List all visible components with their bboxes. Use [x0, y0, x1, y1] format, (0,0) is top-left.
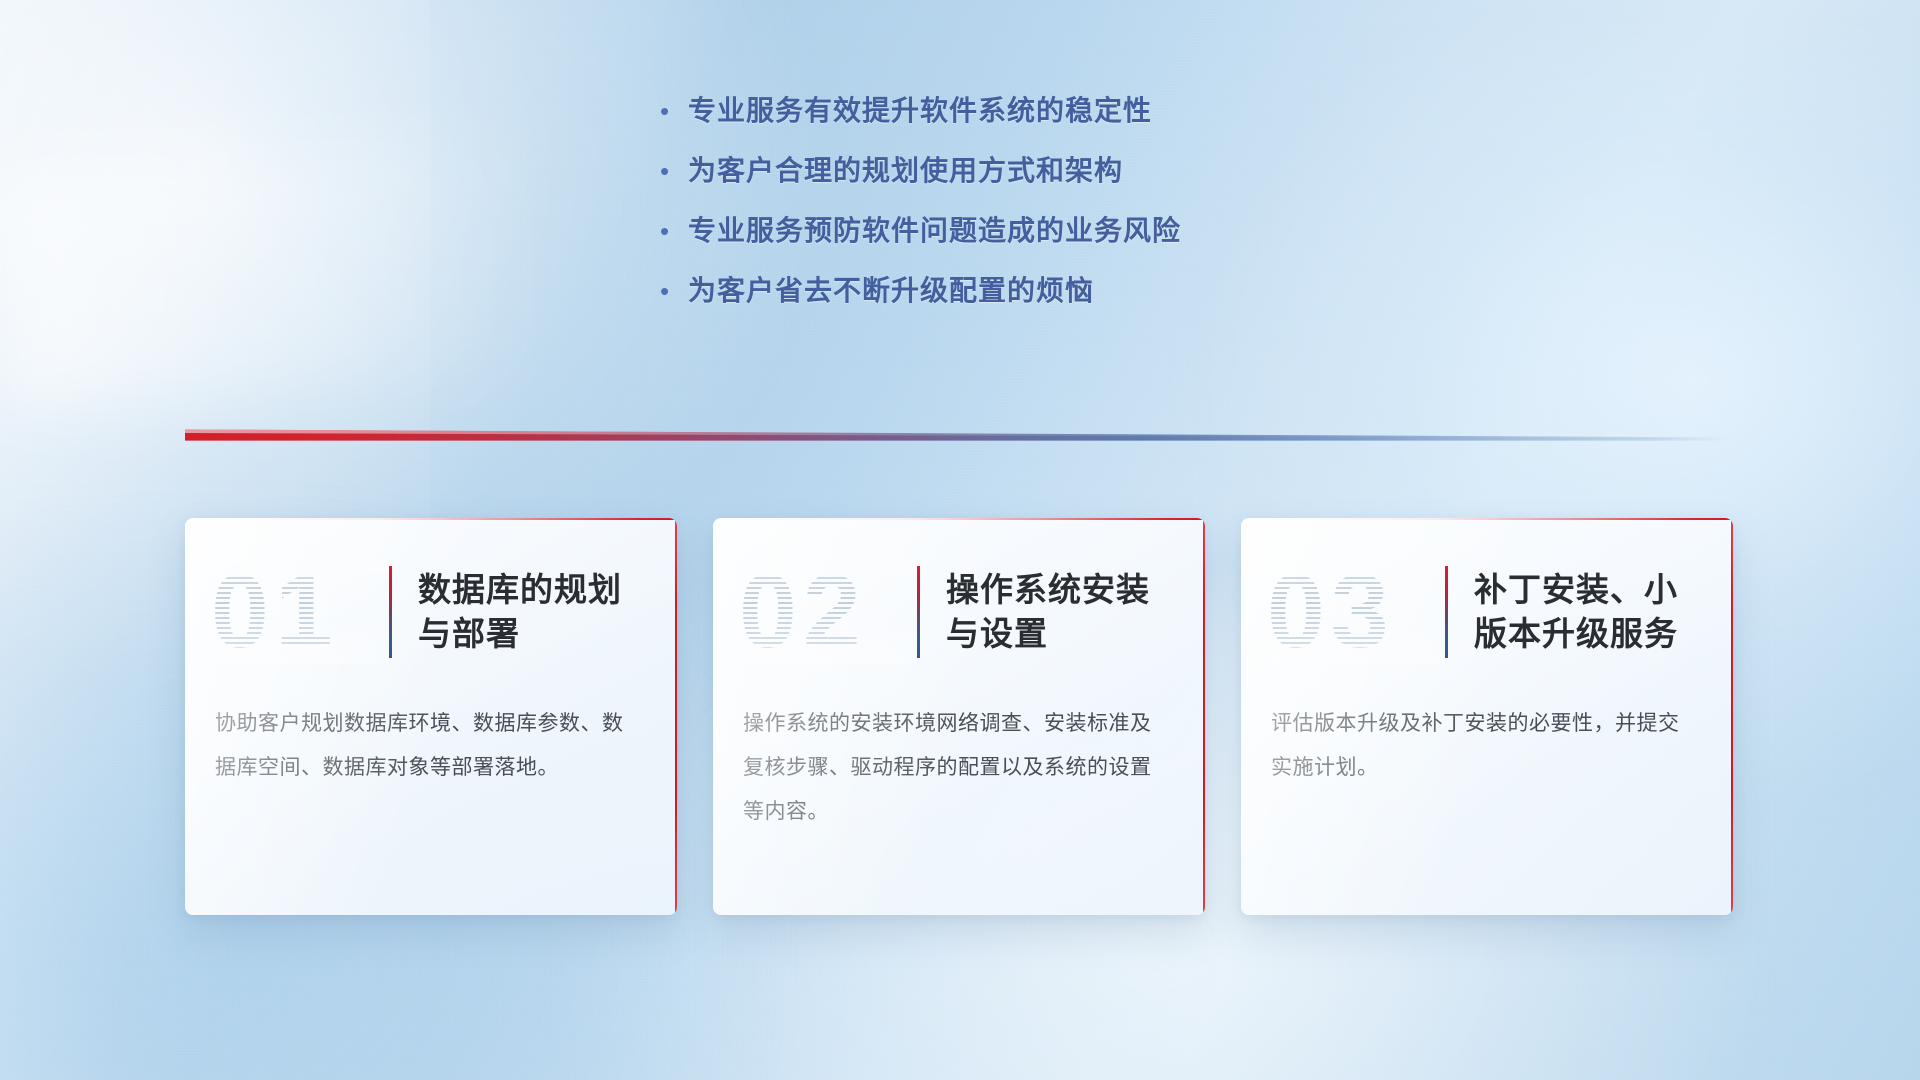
card-divider-rule	[389, 566, 392, 658]
bullet-text: 专业服务有效提升软件系统的稳定性	[688, 92, 1152, 130]
card-title: 补丁安装、小版本升级服务	[1474, 568, 1703, 656]
card-description: 操作系统的安装环境网络调查、安装标准及复核步骤、驱动程序的配置以及系统的设置等内…	[713, 668, 1205, 834]
service-card-03[interactable]: 03 补丁安装、小版本升级服务 评估版本升级及补丁安装的必要性，并提交实施计划。	[1241, 518, 1733, 915]
bullet-marker-icon: •	[660, 272, 688, 310]
bullet-text: 专业服务预防软件问题造成的业务风险	[688, 212, 1181, 250]
card-number: 01	[211, 560, 389, 664]
card-number: 02	[739, 560, 917, 664]
bullet-marker-icon: •	[660, 152, 688, 190]
service-card-row: 01 数据库的规划与部署 协助客户规划数据库环境、数据库参数、数据库空间、数据库…	[185, 518, 1733, 915]
card-number: 03	[1267, 560, 1445, 664]
card-title: 操作系统安装与设置	[946, 568, 1175, 656]
service-card-01[interactable]: 01 数据库的规划与部署 协助客户规划数据库环境、数据库参数、数据库空间、数据库…	[185, 518, 677, 915]
bullet-item: • 为客户省去不断升级配置的烦恼	[660, 272, 1380, 310]
bullet-item: • 专业服务预防软件问题造成的业务风险	[660, 212, 1380, 250]
card-divider-rule	[1445, 566, 1448, 658]
card-description: 协助客户规划数据库环境、数据库参数、数据库空间、数据库对象等部署落地。	[185, 668, 677, 790]
card-title: 数据库的规划与部署	[418, 568, 647, 656]
card-divider-rule	[917, 566, 920, 658]
service-card-02[interactable]: 02 操作系统安装与设置 操作系统的安装环境网络调查、安装标准及复核步骤、驱动程…	[713, 518, 1205, 915]
bullet-item: • 为客户合理的规划使用方式和架构	[660, 152, 1380, 190]
card-header: 03 补丁安装、小版本升级服务	[1241, 518, 1733, 668]
bullet-marker-icon: •	[660, 92, 688, 130]
card-description: 评估版本升级及补丁安装的必要性，并提交实施计划。	[1241, 668, 1733, 790]
card-header: 02 操作系统安装与设置	[713, 518, 1205, 668]
bullet-marker-icon: •	[660, 212, 688, 250]
section-divider	[185, 425, 1730, 445]
bullet-item: • 专业服务有效提升软件系统的稳定性	[660, 92, 1380, 130]
benefits-bullet-list: • 专业服务有效提升软件系统的稳定性 • 为客户合理的规划使用方式和架构 • 专…	[660, 92, 1380, 332]
card-header: 01 数据库的规划与部署	[185, 518, 677, 668]
bullet-text: 为客户合理的规划使用方式和架构	[688, 152, 1123, 190]
bullet-text: 为客户省去不断升级配置的烦恼	[688, 272, 1094, 310]
